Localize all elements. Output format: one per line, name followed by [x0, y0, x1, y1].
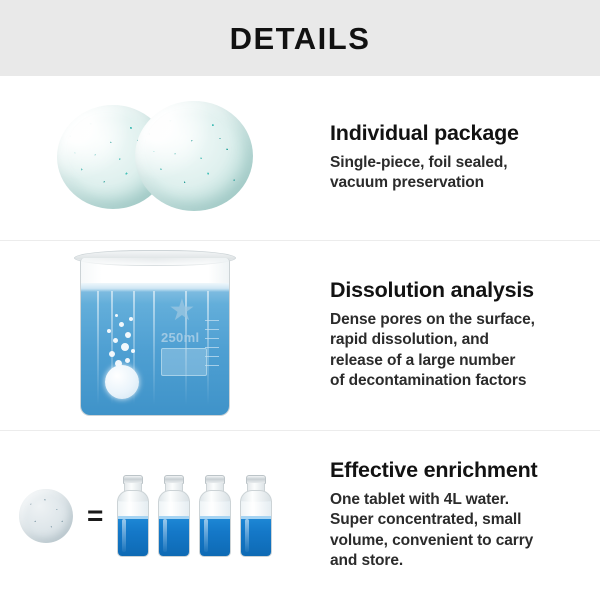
copy-individual-package: Individual package Single-piece, foil se…: [310, 122, 600, 194]
copy-dissolution-analysis: Dissolution analysis Dense pores on the …: [310, 279, 600, 392]
body-line: of decontamination factors: [330, 371, 588, 392]
bottle-body: [158, 501, 190, 557]
liquid-streak: [97, 291, 99, 405]
page-title: DETAILS: [230, 23, 371, 54]
section-heading: Dissolution analysis: [330, 279, 588, 303]
bottle-shoulder: [199, 490, 231, 502]
body-line: release of a large number: [330, 351, 588, 372]
page-header: DETAILS: [0, 0, 600, 76]
bottle-liquid: [200, 516, 230, 556]
single-tablet-icon: [19, 489, 73, 543]
body-line: One tablet with 4L water.: [330, 490, 588, 511]
beaker-blank-label: [161, 348, 207, 376]
bottle-liquid: [159, 516, 189, 556]
body-line: Dense pores on the surface,: [330, 310, 588, 331]
body-line: volume, convenient to carry: [330, 531, 588, 552]
liquid-streak: [153, 291, 155, 405]
fizz-bubble-column: [101, 311, 145, 369]
section-body: One tablet with 4L water. Super concentr…: [330, 490, 588, 572]
bottle-liquid: [241, 516, 271, 556]
bottle-group: [115, 475, 274, 557]
media-effervescent-tablets: [0, 76, 310, 240]
copy-effective-enrichment: Effective enrichment One tablet with 4L …: [310, 459, 600, 572]
section-body: Dense pores on the surface, rapid dissol…: [330, 310, 588, 392]
bottle-shoulder: [158, 490, 190, 502]
effervescent-tablets-pair-icon: [57, 99, 253, 217]
tablet-disc-right: [135, 101, 253, 211]
beaker-graduation-ticks: [205, 320, 219, 374]
enrichment-equation: =: [5, 461, 305, 571]
section-heading: Individual package: [330, 122, 588, 146]
bottle-icon: [238, 475, 274, 557]
body-line: Single-piece, foil sealed,: [330, 153, 588, 174]
section-dissolution-analysis: ★ 250ml: [0, 241, 600, 430]
beaker-icon: ★ 250ml: [80, 250, 230, 422]
bottle-liquid: [118, 516, 148, 556]
body-line: Super concentrated, small: [330, 510, 588, 531]
section-body: Single-piece, foil sealed, vacuum preser…: [330, 153, 588, 194]
media-tablet-equals-bottles: =: [0, 431, 310, 600]
body-line: vacuum preservation: [330, 173, 588, 194]
bottle-body: [240, 501, 272, 557]
details-infographic: DETAILS Individual package Single-piece,…: [0, 0, 600, 600]
beaker-volume-label: 250ml: [161, 330, 199, 345]
bottle-icon: [156, 475, 192, 557]
beaker-body: ★ 250ml: [80, 258, 230, 416]
body-line: and store.: [330, 551, 588, 572]
bottle-body: [199, 501, 231, 557]
media-beaker: ★ 250ml: [0, 241, 310, 430]
star-logo-icon: ★: [165, 294, 199, 328]
bottle-shoulder: [240, 490, 272, 502]
bottle-body: [117, 501, 149, 557]
section-effective-enrichment: =: [0, 431, 600, 600]
section-heading: Effective enrichment: [330, 459, 588, 483]
bottle-icon: [197, 475, 233, 557]
equals-sign: =: [87, 502, 103, 530]
dissolving-tablet-icon: [105, 365, 139, 399]
bottle-icon: [115, 475, 151, 557]
bottle-shoulder: [117, 490, 149, 502]
section-individual-package: Individual package Single-piece, foil se…: [0, 76, 600, 240]
body-line: rapid dissolution, and: [330, 330, 588, 351]
